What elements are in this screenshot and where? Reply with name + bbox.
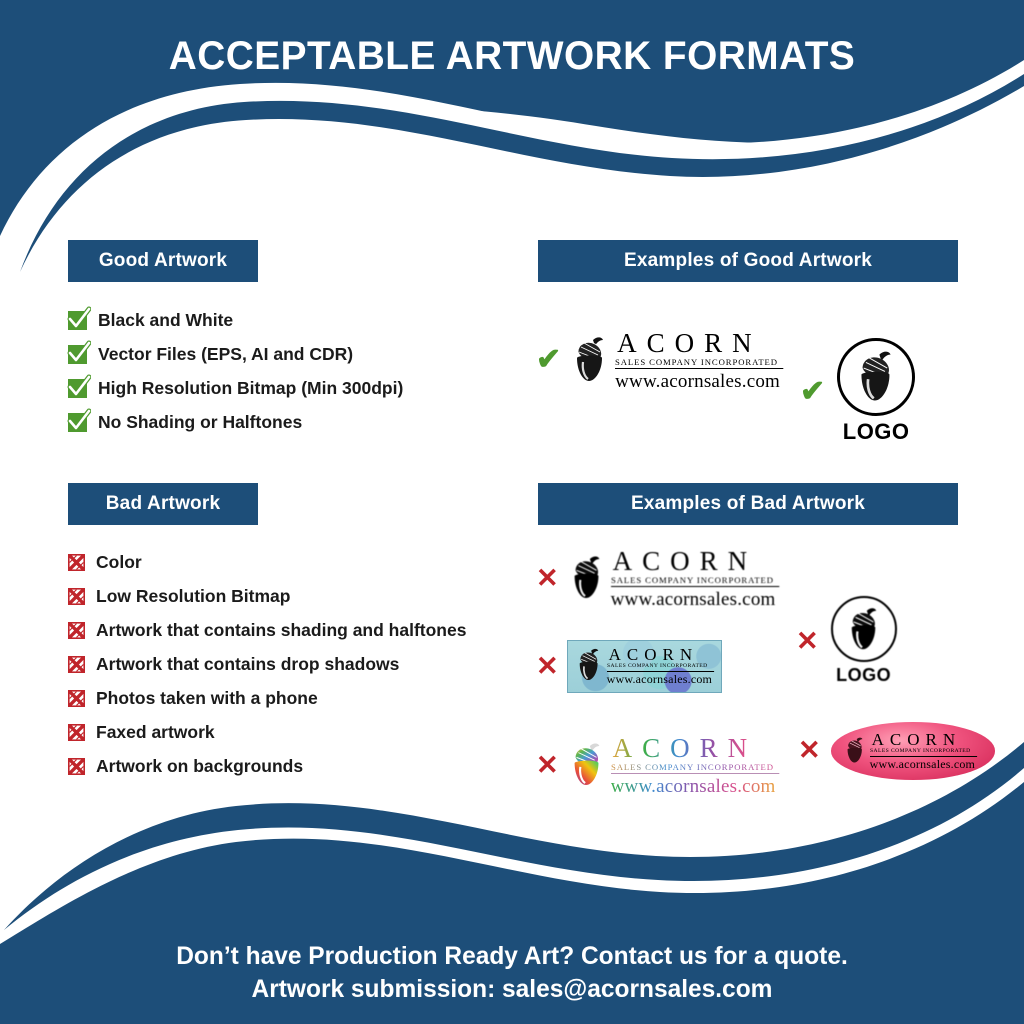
acorn-url: www.acornsales.com [611, 777, 776, 796]
list-item: Color [68, 545, 466, 579]
acorn-icon [574, 647, 604, 683]
section-header-examples-good-label: Examples of Good Artwork [624, 250, 872, 272]
acorn-wordmark: ACORN [611, 548, 776, 575]
red-x-mark: ✕ [796, 628, 819, 655]
acorn-logo-lockup: ACORN SALES COMPANY INCORPORATED www.aco… [567, 548, 776, 609]
logo-circle-label: LOGO [843, 419, 910, 445]
list-item-label: Vector Files (EPS, AI and CDR) [98, 344, 353, 365]
section-header-examples-good: Examples of Good Artwork [538, 240, 958, 282]
list-item-label: Photos taken with a phone [96, 688, 318, 709]
list-item: No Shading or Halftones [68, 405, 403, 439]
green-check-icon [68, 311, 87, 330]
section-header-good-artwork: Good Artwork [68, 240, 258, 282]
list-item: Black and White [68, 303, 403, 337]
acorn-tagline: SALES COMPANY INCORPORATED [611, 763, 779, 774]
acorn-icon [569, 335, 611, 385]
list-item-label: Low Resolution Bitmap [96, 586, 290, 607]
list-item-label: Faxed artwork [96, 722, 215, 743]
list-item: Photos taken with a phone [68, 681, 466, 715]
red-x-icon [68, 724, 85, 741]
list-item: Low Resolution Bitmap [68, 579, 466, 613]
green-check-mark: ✔ [800, 377, 825, 407]
acorn-wordmark: ACORN [870, 731, 975, 748]
list-item-label: Artwork that contains drop shadows [96, 654, 399, 675]
red-x-mark: ✕ [536, 653, 559, 680]
red-x-icon [68, 588, 85, 605]
green-check-icon [68, 345, 87, 364]
logo-circle-ring [837, 338, 915, 416]
logo-circle-ring [831, 596, 897, 662]
acorn-logo-lockup: ACORN SALES COMPANY INCORPORATED www.aco… [569, 330, 780, 391]
section-header-examples-bad-label: Examples of Bad Artwork [631, 493, 865, 515]
footer-line-2: Artwork submission: sales@acornsales.com [10, 973, 1014, 1006]
content-area: Good Artwork Black and White Vector F [0, 0, 1024, 1024]
acorn-icon [567, 741, 607, 789]
green-check-icon [68, 413, 87, 432]
page-title: ACCEPTABLE ARTWORK FORMATS [15, 34, 1008, 79]
acorn-wordmark: ACORN [611, 735, 776, 762]
acorn-tagline: SALES COMPANY INCORPORATED [611, 576, 779, 587]
good-artwork-list: Black and White Vector Files (EPS, AI an… [68, 303, 403, 439]
list-item: Artwork that contains drop shadows [68, 647, 466, 681]
green-check-mark: ✔ [536, 345, 561, 375]
footer-line-1: Don’t have Production Ready Art? Contact… [10, 940, 1014, 973]
red-x-icon [68, 758, 85, 775]
acorn-logo-lockup: ACORN SALES COMPANY INCORPORATED www.aco… [831, 722, 995, 780]
list-item-label: Color [96, 552, 142, 573]
acorn-url: www.acornsales.com [615, 372, 780, 391]
circle-logo-lockup: LOGO [831, 596, 897, 686]
acorn-icon [844, 606, 884, 653]
example-bad-background-wordmark: ✕ ACORN SALES COMPANY INCORPORATED www.a… [536, 640, 722, 693]
acorn-wordmark: ACORN [607, 646, 712, 663]
red-x-icon [68, 554, 85, 571]
acorn-logo-lockup: ACORN SALES COMPANY INCORPORATED www.aco… [567, 735, 776, 796]
list-item-label: High Resolution Bitmap (Min 300dpi) [98, 378, 403, 399]
list-item-label: Artwork that contains shading and halfto… [96, 620, 466, 641]
acorn-icon [843, 736, 867, 765]
logo-circle-label: LOGO [836, 665, 891, 686]
bad-artwork-list: Color Low Resolution Bitmap Artwork th [68, 545, 466, 783]
acorn-tagline: SALES COMPANY INCORPORATED [607, 664, 715, 672]
example-bad-rainbow-wordmark: ✕ [536, 735, 776, 796]
red-x-mark: ✕ [536, 565, 559, 592]
list-item-label: Artwork on backgrounds [96, 756, 303, 777]
section-header-bad-artwork-label: Bad Artwork [106, 493, 220, 515]
red-x-icon [68, 622, 85, 639]
section-header-bad-artwork: Bad Artwork [68, 483, 258, 525]
example-bad-lowres-wordmark: ✕ ACORN SALES COMPANY INCORPORATED www.a… [536, 548, 776, 609]
example-bad-pink-oval-logo: ✕ ACORN SALES COMPANY INCORPORATED www.a… [798, 722, 995, 780]
acorn-icon [567, 554, 607, 602]
red-x-mark: ✕ [536, 752, 559, 779]
footer-contact-text: Don’t have Production Ready Art? Contact… [10, 940, 1014, 1007]
list-item-label: Black and White [98, 310, 233, 331]
acorn-url: www.acornsales.com [611, 590, 776, 609]
acorn-logo-lockup: ACORN SALES COMPANY INCORPORATED www.aco… [567, 640, 722, 693]
list-item: High Resolution Bitmap (Min 300dpi) [68, 371, 403, 405]
red-x-mark: ✕ [798, 737, 821, 764]
list-item: Vector Files (EPS, AI and CDR) [68, 337, 403, 371]
list-item: Faxed artwork [68, 715, 466, 749]
section-header-good-artwork-label: Good Artwork [99, 250, 227, 272]
circle-logo-lockup: LOGO [837, 338, 915, 445]
section-header-examples-bad: Examples of Bad Artwork [538, 483, 958, 525]
red-x-icon [68, 656, 85, 673]
green-check-icon [68, 379, 87, 398]
acorn-icon [852, 349, 900, 405]
acorn-url: www.acornsales.com [870, 758, 975, 770]
list-item-label: No Shading or Halftones [98, 412, 302, 433]
acorn-tagline: SALES COMPANY INCORPORATED [615, 358, 783, 369]
example-bad-lowres-circle-logo: ✕ LOGO [796, 596, 897, 686]
example-good-wordmark: ✔ ACORN SALES COMPANY INCORPORATED www.a… [536, 330, 780, 391]
list-item: Artwork on backgrounds [68, 749, 466, 783]
acorn-tagline: SALES COMPANY INCORPORATED [870, 749, 978, 757]
example-good-circle-logo: ✔ LOGO [800, 338, 915, 445]
acorn-wordmark: ACORN [615, 330, 780, 357]
acorn-url: www.acornsales.com [607, 673, 712, 685]
red-x-icon [68, 690, 85, 707]
list-item: Artwork that contains shading and halfto… [68, 613, 466, 647]
